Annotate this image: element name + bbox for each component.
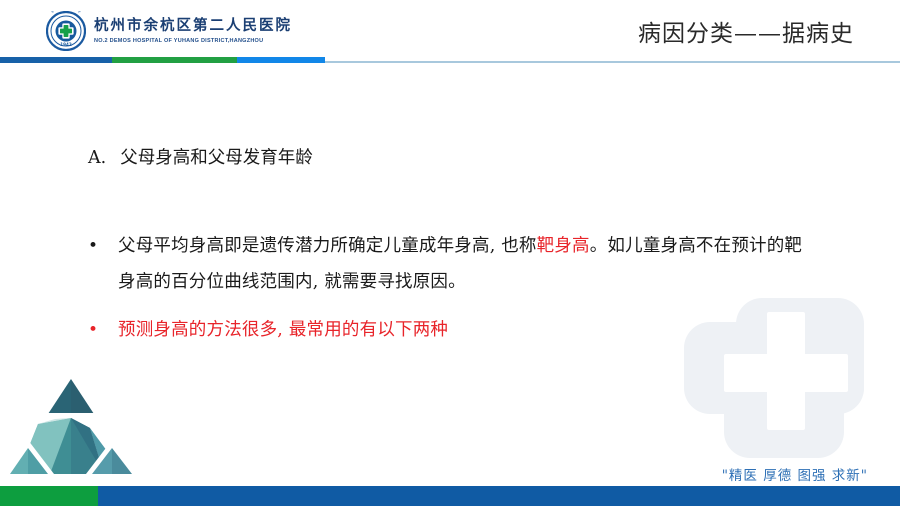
header-divider-segment-cyan [237,57,325,63]
bullet-text-1-part-1: 父母平均身高即是遗传潜力所确定儿童成年身高, 也称 [118,236,537,256]
hospital-logo-block: 杭州市余杭区第二人民医院 1942 杭州市余杭区第二人民医院 NO.2 DEMO… [46,11,292,51]
seal-year-label: 1942 [60,42,72,47]
bullet-text-2: 预测身高的方法很多, 最常用的有以下两种 [118,312,818,348]
bullet-marker: • [88,228,118,264]
bullet-marker: • [88,312,118,348]
bullet-text-1: 父母平均身高即是遗传潜力所确定儿童成年身高, 也称靶身高。如儿童身高不在预计的靶… [118,228,818,300]
bullet-text-1-emphasis: 靶身高 [537,236,590,256]
slide-header: 杭州市余杭区第二人民医院 1942 杭州市余杭区第二人民医院 NO.2 DEMO… [0,0,900,58]
hospital-name-cn: 杭州市余杭区第二人民医院 [94,17,292,35]
footer-bar-green [0,486,98,506]
hospital-name-en: NO.2 DEMOS HOSPITAL OF YUHANG DISTRICT,H… [94,38,296,45]
footer-slogan: "精医 厚德 图强 求新" [722,464,868,484]
page-title: 病因分类——据病史 [638,14,854,48]
header-divider-segment-green [112,57,237,63]
bullet-item-2: • 预测身高的方法很多, 最常用的有以下两种 [88,312,818,348]
heading-marker: A. [88,148,106,168]
heading-text: 父母身高和父母发育年龄 [120,148,313,168]
footer-bar-blue [98,486,900,506]
header-divider-segment-blue [0,57,112,63]
hospital-seal-icon: 杭州市余杭区第二人民医院 1942 [46,11,86,51]
slide-canvas: 杭州市余杭区第二人民医院 1942 杭州市余杭区第二人民医院 NO.2 DEMO… [0,0,900,506]
list-item-heading-a: A.父母身高和父母发育年龄 [88,144,313,169]
bullet-item-1: • 父母平均身高即是遗传潜力所确定儿童成年身高, 也称靶身高。如儿童身高不在预计… [88,228,818,300]
faceted-mountain-logo-icon [8,366,134,485]
hospital-name-group: 杭州市余杭区第二人民医院 NO.2 DEMOS HOSPITAL OF YUHA… [94,17,292,44]
